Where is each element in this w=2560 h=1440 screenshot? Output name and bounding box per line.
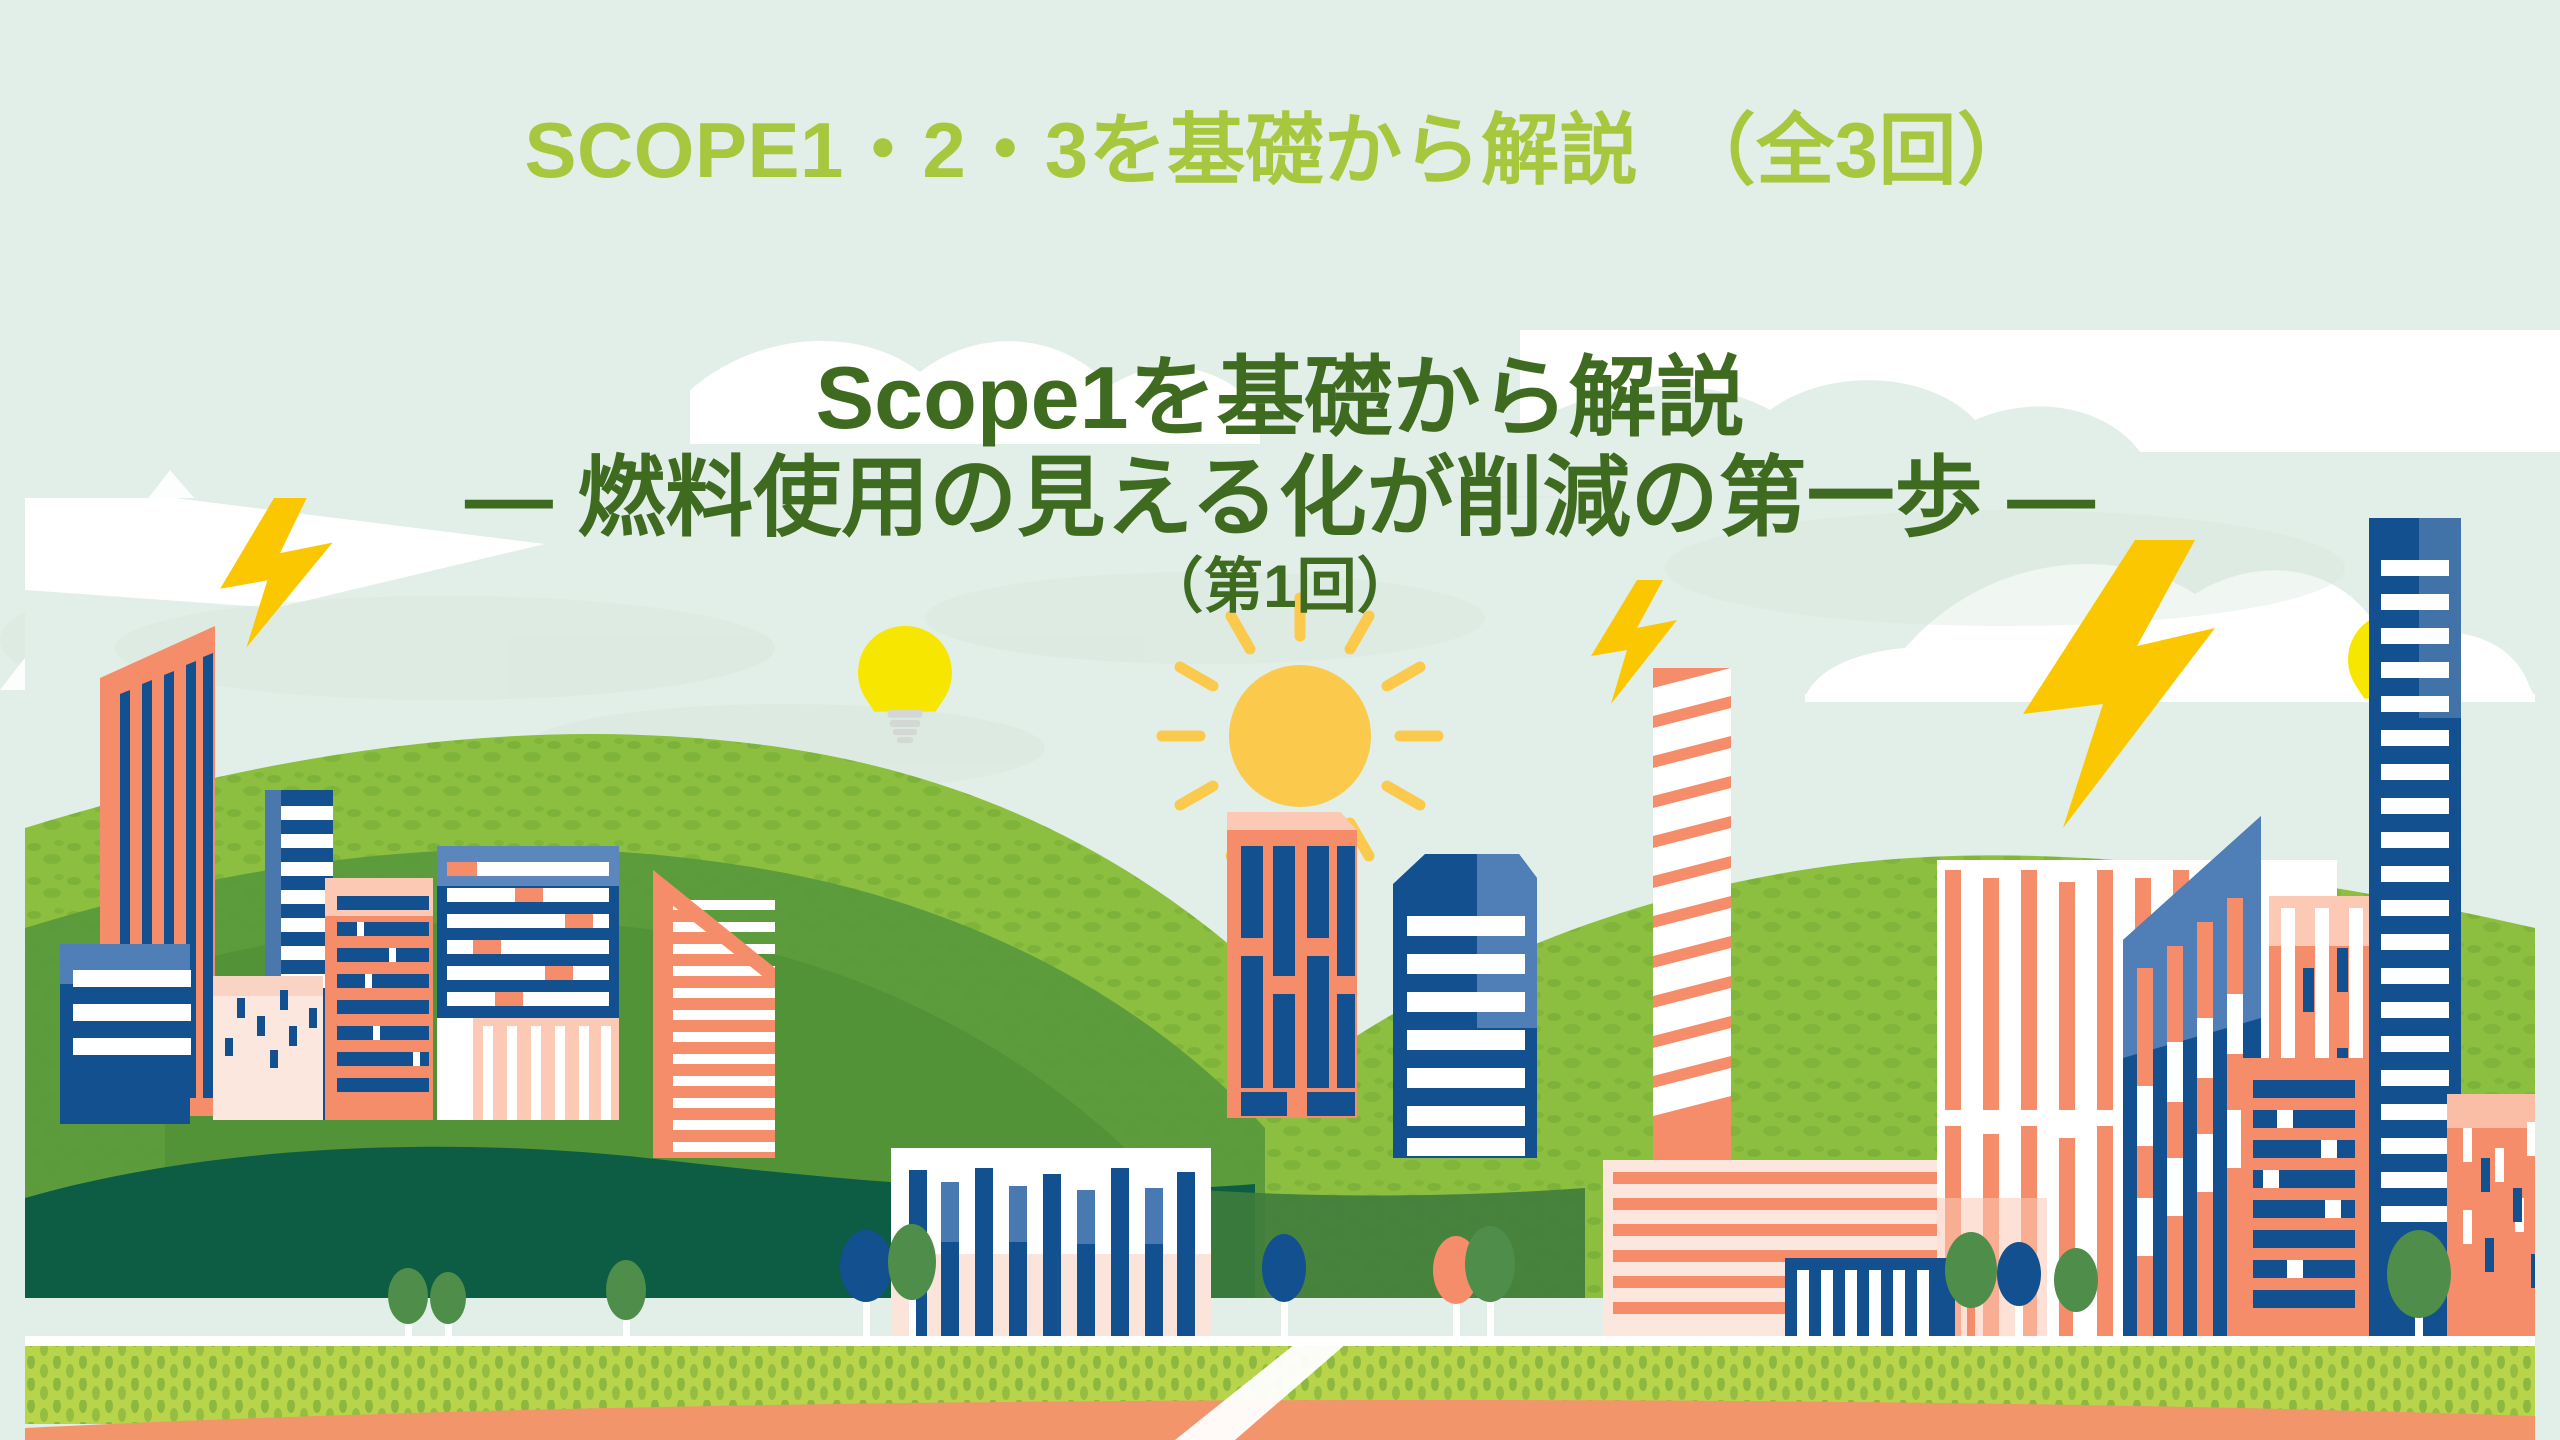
building-icon: [60, 944, 191, 1124]
cloud-shape-top-right: [1520, 330, 2560, 452]
poster-canvas: SCOPE1・2・3を基礎から解説 （全3回） Scope1を基礎から解説 ― …: [0, 0, 2560, 1440]
building-icon: [325, 878, 433, 1120]
building-icon: [1393, 854, 1537, 1158]
eco-city-illustration: [25, 498, 2535, 1440]
building-icon: [213, 976, 323, 1120]
building-icon: [2241, 1058, 2371, 1338]
building-icon: [437, 846, 619, 1120]
building-icon: [2447, 1094, 2535, 1338]
building-icon: [1653, 668, 1731, 1168]
building-icon: [891, 1148, 1211, 1338]
building-icon: [1785, 1258, 1955, 1338]
hill-shape-dark-foreground-right: [1175, 1188, 1585, 1298]
building-icon: [1227, 812, 1357, 1118]
cloud-shape-center: [690, 341, 1260, 444]
